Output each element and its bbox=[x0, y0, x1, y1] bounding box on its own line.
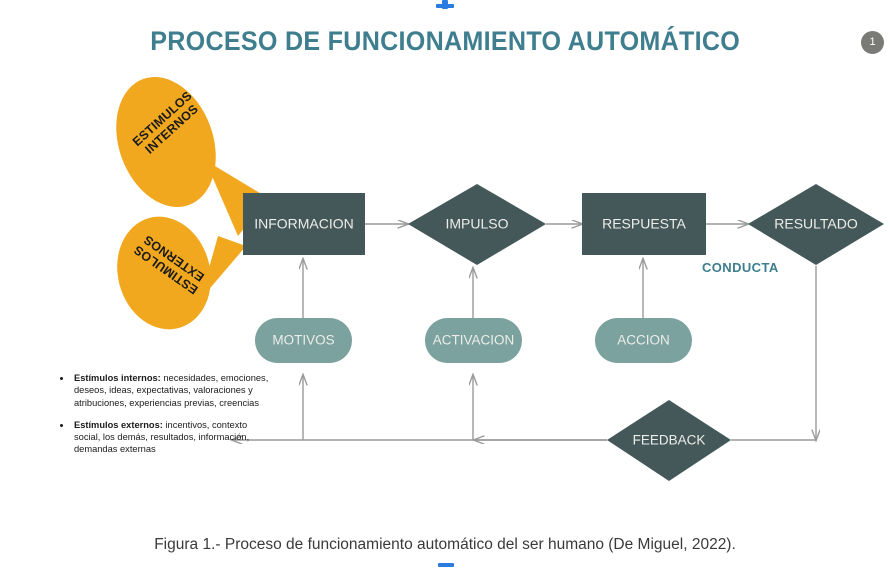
annotation-conducta: CONDUCTA bbox=[702, 260, 779, 275]
node-activacion-label: ACTIVACION bbox=[433, 333, 515, 348]
node-impulso[interactable]: IMPULSO bbox=[408, 184, 546, 265]
legend-item-externos: Estímulos externos: incentivos, contexto… bbox=[72, 419, 276, 456]
node-resultado-label: RESULTADO bbox=[774, 216, 858, 232]
legend-item-internos-head: Estímulos internos: bbox=[74, 373, 161, 383]
node-activacion[interactable]: ACTIVACION bbox=[425, 318, 522, 363]
node-impulso-label: IMPULSO bbox=[445, 216, 508, 232]
legend-list: Estímulos internos: necesidades, emocion… bbox=[58, 372, 276, 466]
slide-canvas: PROCESO DE FUNCIONAMIENTO AUTOMÁTICO 1 bbox=[0, 0, 890, 572]
node-feedback-label: FEEDBACK bbox=[633, 433, 706, 448]
node-informacion-label: INFORMACION bbox=[254, 216, 354, 232]
legend-item-internos: Estímulos internos: necesidades, emocion… bbox=[72, 372, 276, 409]
node-motivos[interactable]: MOTIVOS bbox=[255, 318, 352, 363]
node-feedback[interactable]: FEEDBACK bbox=[607, 400, 731, 481]
figure-caption: Figura 1.- Proceso de funcionamiento aut… bbox=[0, 536, 890, 554]
node-resultado[interactable]: RESULTADO bbox=[748, 184, 884, 265]
legend-item-externos-head: Estímulos externos: bbox=[74, 420, 163, 430]
node-respuesta-label: RESPUESTA bbox=[602, 216, 686, 232]
node-accion-label: ACCION bbox=[617, 333, 670, 348]
node-accion[interactable]: ACCION bbox=[595, 318, 692, 363]
node-motivos-label: MOTIVOS bbox=[272, 333, 334, 348]
flowchart-diagram: INFORMACION IMPULSO RESPUESTA RESULTADO … bbox=[0, 0, 890, 572]
node-informacion[interactable]: INFORMACION bbox=[243, 193, 365, 255]
node-respuesta[interactable]: RESPUESTA bbox=[582, 193, 706, 255]
